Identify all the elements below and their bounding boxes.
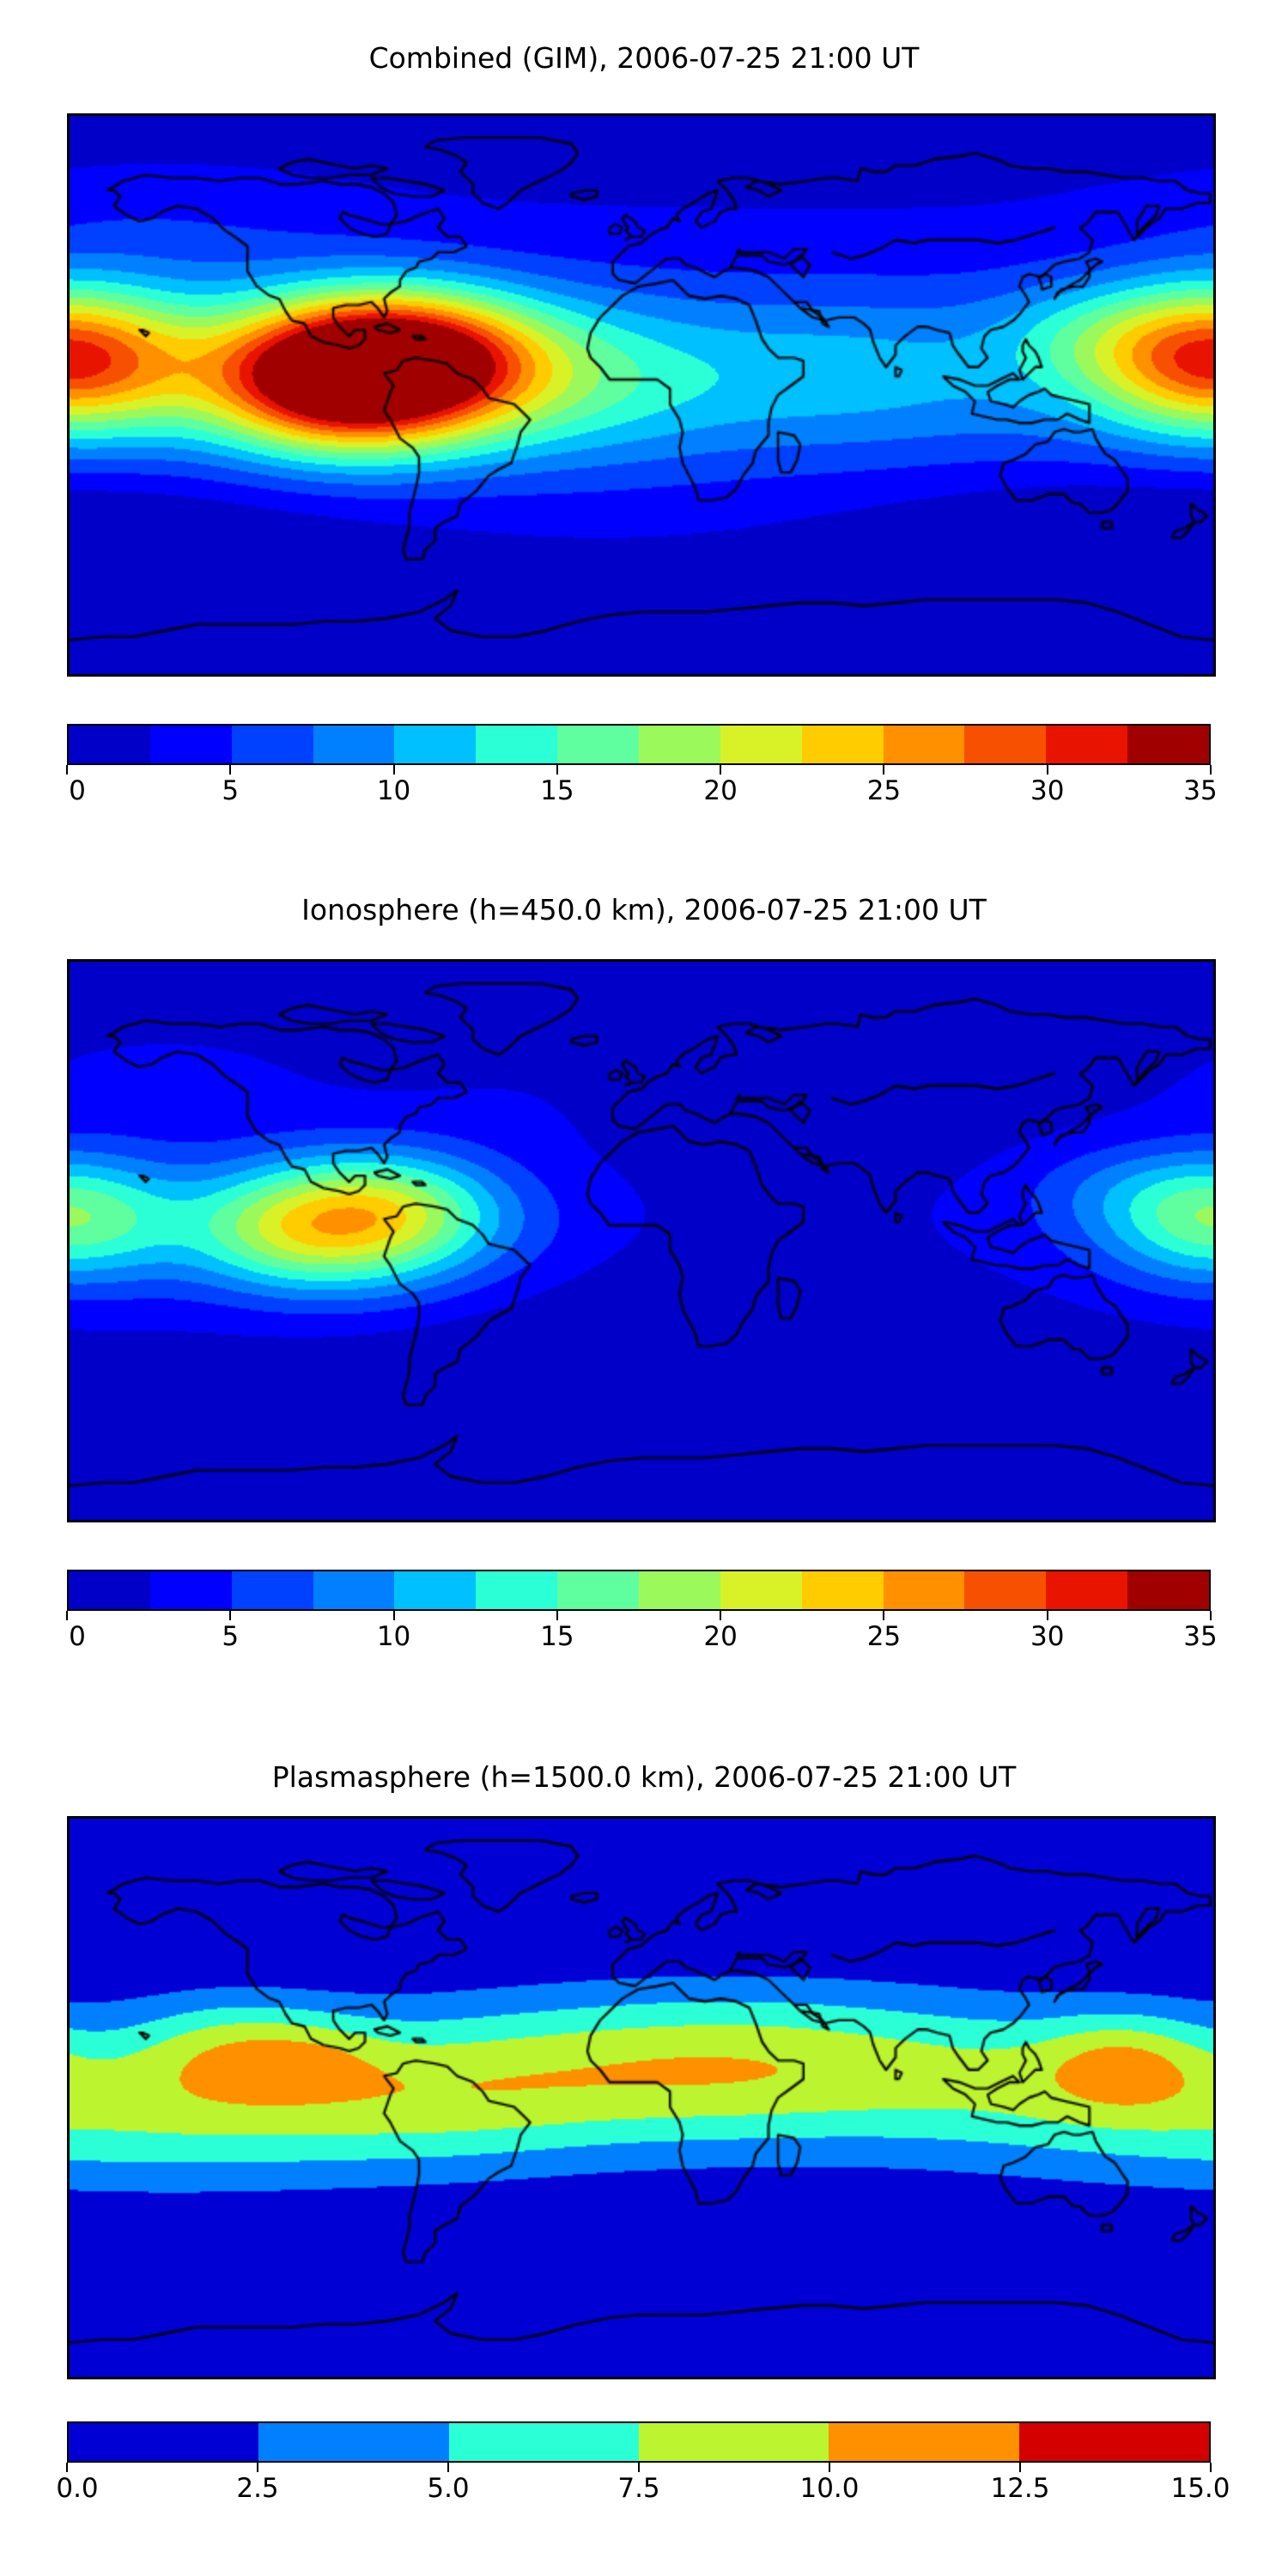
panel-ionosphere: Ionosphere (h=450.0 km), 2006-07-25 21:0…: [0, 859, 1288, 1722]
colorbar-tick-mark: [257, 2463, 258, 2472]
colorbar-tick-label: 20: [703, 1621, 737, 1652]
colorbar-tick-label: 7.5: [617, 2473, 659, 2504]
colorbar-segment: [884, 1571, 965, 1609]
colorbar-tick-mark: [1210, 2463, 1212, 2472]
colorbar-tick-mark: [1210, 765, 1212, 775]
colorbar-tick-mark: [66, 1611, 68, 1620]
panel-combined-gim: Combined (GIM), 2006-07-25 21:00 UT 0510…: [0, 0, 1288, 859]
colorbar-tick-mark: [66, 765, 68, 775]
colorbar-segment: [802, 1571, 884, 1609]
map-raster-combined-gim: [70, 116, 1213, 674]
colorbar-tick-label: 30: [1030, 775, 1064, 806]
colorbar-segment: [1127, 726, 1209, 763]
map-plasmasphere[interactable]: [67, 1816, 1216, 2379]
colorbar-segment: [557, 1571, 639, 1609]
colorbar-tick-mark: [229, 765, 231, 775]
colorbar-tick-label: 15: [540, 775, 574, 806]
colorbar-segment: [1019, 2423, 1209, 2461]
colorbar-tick-mark: [829, 2463, 830, 2472]
colorbar-ionosphere-ticks: 05101520253035: [67, 1611, 1211, 1650]
colorbar-tick-label: 15: [540, 1621, 574, 1652]
colorbar-tick-label: 30: [1030, 1621, 1064, 1652]
colorbar-segment: [313, 1571, 395, 1609]
colorbar-segment: [884, 726, 965, 763]
colorbar-tick-label: 5.0: [427, 2473, 469, 2504]
colorbar-tick-mark: [66, 2463, 68, 2472]
colorbar-segment: [802, 726, 884, 763]
colorbar-tick-label: 10: [377, 1621, 410, 1652]
colorbar-combined-ticks: 05101520253035: [67, 765, 1211, 805]
colorbar-segment: [829, 2423, 1018, 2461]
colorbar-plasmasphere-ticks: 0.02.55.07.510.012.515.0: [67, 2463, 1211, 2502]
colorbar-segment: [557, 726, 639, 763]
colorbar-tick-label: 10.0: [799, 2473, 859, 2504]
colorbar-segment: [964, 1571, 1046, 1609]
colorbar-tick-label: 20: [703, 775, 737, 806]
colorbar-segment: [150, 726, 232, 763]
colorbar-tick-mark: [393, 1611, 395, 1620]
colorbar-tick-label: 0: [69, 1621, 86, 1652]
colorbar-plasmasphere: 0.02.55.07.510.012.515.0: [67, 2421, 1211, 2516]
colorbar-tick-mark: [556, 1611, 558, 1620]
colorbar-segment: [720, 726, 802, 763]
colorbar-ionosphere: 05101520253035: [67, 1570, 1211, 1664]
colorbar-tick-label: 0.0: [56, 2473, 98, 2504]
panel-title-plasmasphere: Plasmasphere (h=1500.0 km), 2006-07-25 2…: [0, 1760, 1288, 1794]
colorbar-segment: [639, 726, 720, 763]
colorbar-segment: [1127, 1571, 1209, 1609]
colorbar-segment: [232, 1571, 313, 1609]
colorbar-segment: [69, 1571, 150, 1609]
colorbar-tick-label: 25: [867, 1621, 901, 1652]
colorbar-segment: [1046, 1571, 1127, 1609]
colorbar-tick-label: 15.0: [1170, 2473, 1230, 2504]
figure-canvas: Combined (GIM), 2006-07-25 21:00 UT 0510…: [0, 0, 1288, 2576]
colorbar-segment: [394, 1571, 476, 1609]
colorbar-segment: [720, 1571, 802, 1609]
colorbar-tick-mark: [883, 765, 884, 775]
colorbar-segment: [394, 726, 476, 763]
colorbar-plasmasphere-bar[interactable]: [67, 2421, 1211, 2463]
colorbar-tick-mark: [1047, 765, 1048, 775]
colorbar-tick-label: 5: [222, 775, 239, 806]
colorbar-segment: [964, 726, 1046, 763]
panel-title-combined-gim: Combined (GIM), 2006-07-25 21:00 UT: [0, 41, 1288, 75]
panel-plasmasphere: Plasmasphere (h=1500.0 km), 2006-07-25 2…: [0, 1722, 1288, 2576]
colorbar-tick-mark: [447, 2463, 449, 2472]
colorbar-tick-label: 25: [867, 775, 901, 806]
colorbar-tick-label: 2.5: [236, 2473, 278, 2504]
colorbar-tick-mark: [883, 1611, 884, 1620]
map-combined-gim[interactable]: [67, 113, 1216, 677]
colorbar-tick-mark: [556, 765, 558, 775]
colorbar-segment: [476, 726, 557, 763]
map-raster-ionosphere: [70, 962, 1213, 1520]
colorbar-tick-label: 12.5: [990, 2473, 1049, 2504]
colorbar-tick-label: 35: [1183, 775, 1217, 806]
colorbar-tick-mark: [720, 765, 721, 775]
colorbar-tick-mark: [638, 2463, 640, 2472]
colorbar-tick-label: 5: [222, 1621, 239, 1652]
colorbar-segment: [69, 2423, 258, 2461]
colorbar-tick-mark: [1047, 1611, 1048, 1620]
colorbar-segment: [476, 1571, 557, 1609]
colorbar-segment: [449, 2423, 639, 2461]
colorbar-tick-label: 35: [1183, 1621, 1217, 1652]
colorbar-tick-label: 0: [69, 775, 86, 806]
colorbar-tick-label: 10: [377, 775, 410, 806]
colorbar-tick-mark: [393, 765, 395, 775]
map-ionosphere[interactable]: [67, 959, 1216, 1522]
colorbar-tick-mark: [1019, 2463, 1021, 2472]
colorbar-segment: [639, 1571, 720, 1609]
colorbar-tick-mark: [720, 1611, 721, 1620]
colorbar-segment: [639, 2423, 829, 2461]
panel-title-ionosphere: Ionosphere (h=450.0 km), 2006-07-25 21:0…: [0, 893, 1288, 927]
colorbar-segment: [69, 726, 150, 763]
colorbar-tick-mark: [229, 1611, 231, 1620]
colorbar-segment: [232, 726, 313, 763]
colorbar-tick-mark: [1210, 1611, 1212, 1620]
colorbar-segment: [313, 726, 395, 763]
colorbar-segment: [258, 2423, 448, 2461]
colorbar-ionosphere-bar[interactable]: [67, 1570, 1211, 1611]
colorbar-segment: [150, 1571, 232, 1609]
colorbar-segment: [1046, 726, 1127, 763]
map-raster-plasmasphere: [70, 1819, 1213, 2377]
colorbar-combined: 05101520253035: [67, 724, 1211, 818]
colorbar-combined-bar[interactable]: [67, 724, 1211, 765]
